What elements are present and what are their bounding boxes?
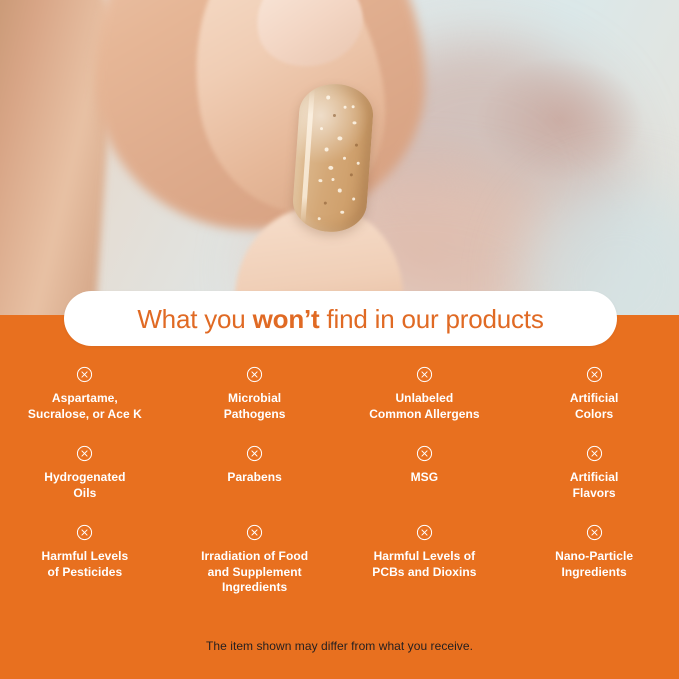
- exclusion-item-msg: MSG: [340, 445, 510, 524]
- headline-suffix: find in our products: [319, 304, 543, 334]
- exclusion-label: Irradiation of Food and Supplement Ingre…: [201, 549, 308, 596]
- exclusion-item-hydrogenated: Hydrogenated Oils: [0, 445, 170, 524]
- exclusion-item-pcbs: Harmful Levels of PCBs and Dioxins: [340, 524, 510, 610]
- exclusion-item-parabens: Parabens: [170, 445, 340, 524]
- exclusions-row: Aspartame, Sucralose, or Ace K Microbial…: [0, 366, 679, 445]
- exclusion-label: Aspartame, Sucralose, or Ace K: [28, 391, 142, 422]
- circle-x-icon: [76, 524, 93, 541]
- circle-x-icon: [246, 445, 263, 462]
- circle-x-icon: [586, 524, 603, 541]
- circle-x-icon: [246, 524, 263, 541]
- exclusion-label: Hydrogenated Oils: [44, 470, 125, 501]
- page-title: What you won’t find in our products: [137, 306, 543, 332]
- circle-x-icon: [416, 366, 433, 383]
- exclusion-label: Nano-Particle Ingredients: [555, 549, 633, 580]
- exclusion-label: Harmful Levels of Pesticides: [42, 549, 129, 580]
- circle-x-icon: [416, 524, 433, 541]
- exclusion-label: Artificial Colors: [570, 391, 619, 422]
- circle-x-icon: [246, 366, 263, 383]
- exclusion-item-pesticides: Harmful Levels of Pesticides: [0, 524, 170, 610]
- circle-x-icon: [586, 445, 603, 462]
- headline-prefix: What you: [137, 304, 252, 334]
- headline-banner: What you won’t find in our products: [64, 291, 617, 346]
- exclusion-item-microbial: Microbial Pathogens: [170, 366, 340, 445]
- circle-x-icon: [76, 366, 93, 383]
- exclusion-label: Harmful Levels of PCBs and Dioxins: [372, 549, 476, 580]
- exclusion-label: Microbial Pathogens: [224, 391, 286, 422]
- circle-x-icon: [586, 366, 603, 383]
- exclusion-item-colors: Artificial Colors: [509, 366, 679, 445]
- exclusion-label: Artificial Flavors: [570, 470, 619, 501]
- exclusions-row: Hydrogenated Oils Parabens MSG: [0, 445, 679, 524]
- exclusion-item-allergens: Unlabeled Common Allergens: [340, 366, 510, 445]
- product-info-graphic: What you won’t find in our products Aspa…: [0, 0, 679, 679]
- circle-x-icon: [76, 445, 93, 462]
- exclusion-item-irradiation: Irradiation of Food and Supplement Ingre…: [170, 524, 340, 610]
- exclusion-label: MSG: [411, 470, 438, 486]
- circle-x-icon: [416, 445, 433, 462]
- exclusions-row: Harmful Levels of Pesticides Irradiation…: [0, 524, 679, 610]
- exclusions-grid: Aspartame, Sucralose, or Ace K Microbial…: [0, 366, 679, 610]
- exclusion-label: Parabens: [227, 470, 281, 486]
- product-photo: [0, 0, 679, 318]
- exclusion-item-aspartame: Aspartame, Sucralose, or Ace K: [0, 366, 170, 445]
- tablet-seam: [300, 88, 314, 224]
- headline-emphasis: won’t: [253, 304, 320, 334]
- supplement-tablet: [291, 82, 375, 235]
- exclusion-item-flavors: Artificial Flavors: [509, 445, 679, 524]
- exclusion-label: Unlabeled Common Allergens: [369, 391, 479, 422]
- disclaimer-note: The item shown may differ from what you …: [0, 639, 679, 653]
- exclusion-item-nanoparticle: Nano-Particle Ingredients: [509, 524, 679, 610]
